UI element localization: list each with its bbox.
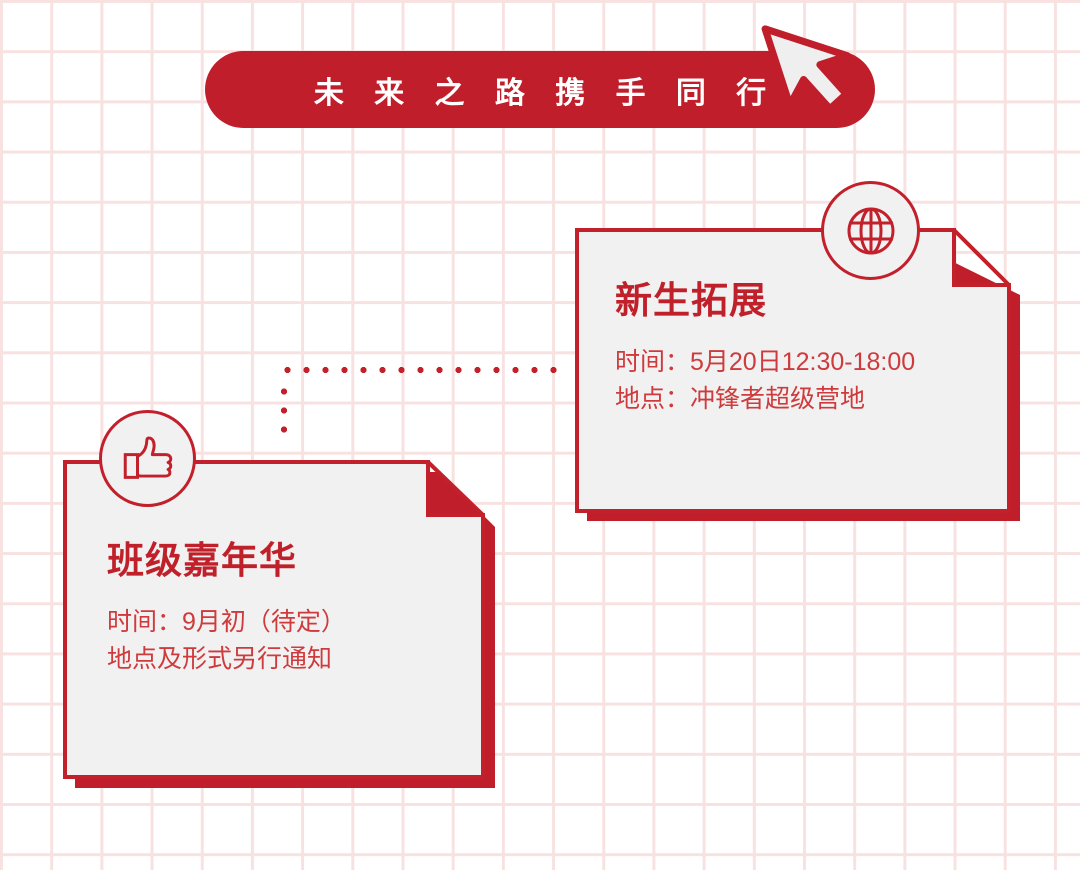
card-text-block: 班级嘉年华 时间：9月初（待定） 地点及形式另行通知 <box>107 530 477 678</box>
card-text-block: 新生拓展 时间：5月20日12:30-18:00 地点：冲锋者超级营地 <box>615 270 995 418</box>
card-line-location: 地点：冲锋者超级营地 <box>615 381 995 418</box>
title-banner: 未 来 之 路 携 手 同 行 <box>205 51 875 128</box>
poster-canvas: 未 来 之 路 携 手 同 行 新生拓展 时间：5月20日12:30-18:00… <box>0 0 1080 870</box>
globe-icon <box>841 201 901 261</box>
card-line-time: 时间：9月初（待定） <box>107 604 477 641</box>
card-class-carnival[interactable]: 班级嘉年华 时间：9月初（待定） 地点及形式另行通知 <box>63 460 498 792</box>
globe-icon-badge[interactable] <box>821 181 920 280</box>
thumbs-up-icon-badge[interactable] <box>99 410 196 507</box>
card-line-location: 地点及形式另行通知 <box>107 641 477 678</box>
dotted-connector-vertical <box>278 382 290 444</box>
card-title: 班级嘉年华 <box>107 530 477 584</box>
card-title: 新生拓展 <box>615 270 995 324</box>
banner-title-text: 未 来 之 路 携 手 同 行 <box>303 68 777 112</box>
card-line-time: 时间：5月20日12:30-18:00 <box>615 344 995 381</box>
thumbs-up-icon <box>120 431 176 487</box>
card-new-student-orientation[interactable]: 新生拓展 时间：5月20日12:30-18:00 地点：冲锋者超级营地 <box>575 228 1023 528</box>
dotted-connector-horizontal <box>278 364 568 376</box>
